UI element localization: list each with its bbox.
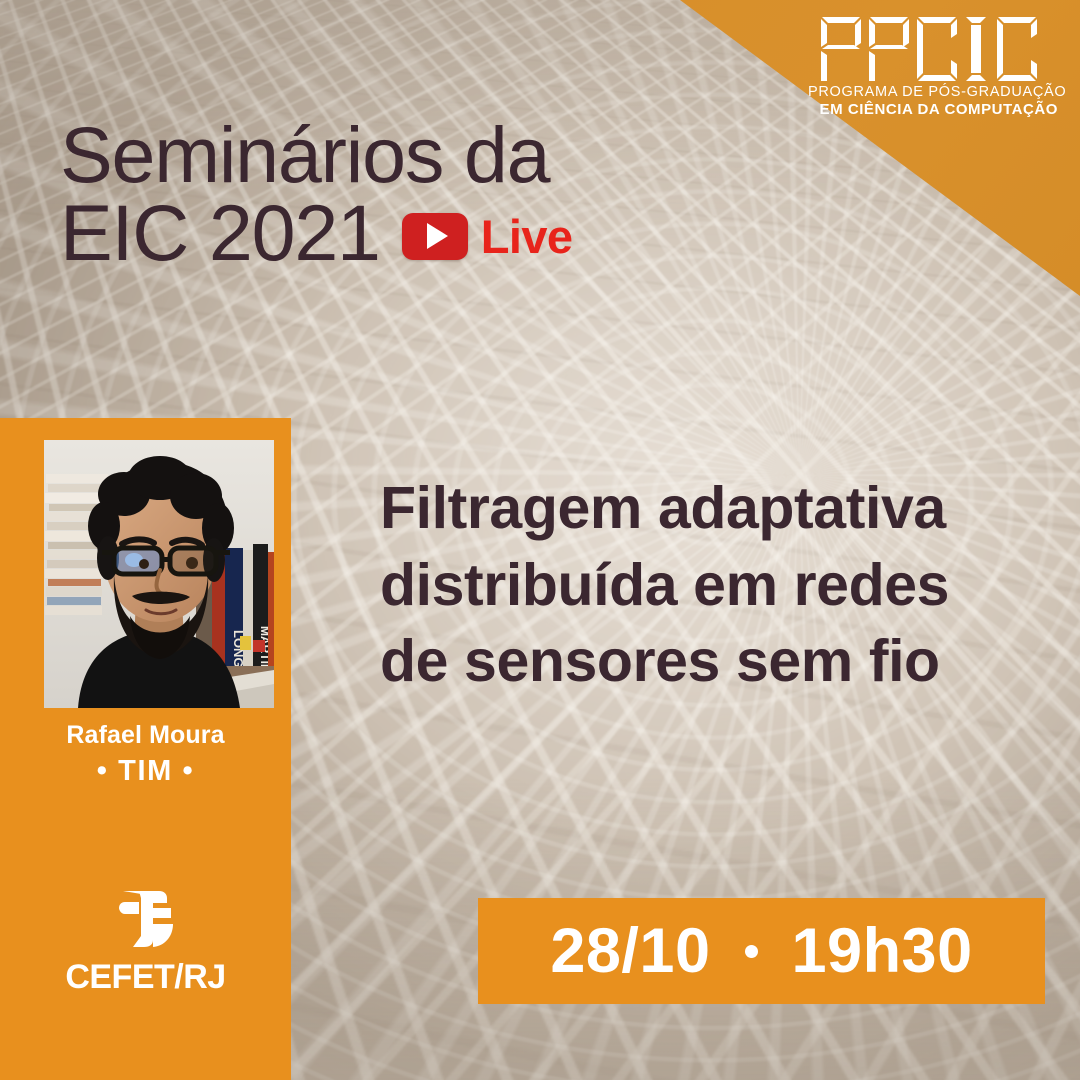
event-time: 19h30 — [792, 920, 973, 983]
live-label: Live — [481, 213, 573, 260]
poster-headline: Seminários da EIC 2021 Live — [60, 116, 760, 272]
ppcic-subtitle-line1: PROGRAMA DE PÓS-GRADUAÇÃO — [808, 84, 1058, 101]
headline-line-1: Seminários da — [60, 116, 760, 194]
cefet-rj-logo: CEFET/RJ — [0, 888, 291, 997]
ppcic-wordmark-icon — [820, 14, 1058, 84]
youtube-play-icon — [402, 213, 468, 260]
talk-title-line-3: de sensores sem fio — [380, 623, 1040, 700]
ppcic-logo: PROGRAMA DE PÓS-GRADUAÇÃO EM CIÊNCIA DA … — [808, 14, 1058, 119]
separator-dot-icon — [745, 945, 758, 958]
speaker-photo: LONGMAN MARTIN — [44, 440, 274, 708]
cefet-rj-name: CEFET/RJ — [0, 958, 291, 997]
talk-title-line-2: distribuída em redes — [380, 547, 1040, 624]
seminar-poster: PROGRAMA DE PÓS-GRADUAÇÃO EM CIÊNCIA DA … — [0, 0, 1080, 1080]
cefet-monogram-icon — [113, 888, 179, 950]
talk-title: Filtragem adaptativa distribuída em rede… — [380, 470, 1040, 700]
youtube-live-badge[interactable]: Live — [402, 213, 573, 260]
headline-row-2: EIC 2021 Live — [60, 194, 760, 272]
speaker-name: Rafael Moura — [0, 721, 291, 750]
ppcic-subtitle-line2: EM CIÊNCIA DA COMPUTAÇÃO — [808, 101, 1058, 119]
speaker-portrait-image: LONGMAN MARTIN — [44, 440, 274, 708]
event-date: 28/10 — [550, 920, 710, 983]
speaker-sidebar: LONGMAN MARTIN — [0, 418, 291, 1080]
talk-title-line-1: Filtragem adaptativa — [380, 470, 1040, 547]
schedule-banner: 28/10 19h30 — [478, 898, 1045, 1004]
speaker-organization: • TIM • — [0, 755, 291, 788]
play-triangle-icon — [427, 223, 448, 249]
headline-line-2: EIC 2021 — [60, 194, 380, 272]
